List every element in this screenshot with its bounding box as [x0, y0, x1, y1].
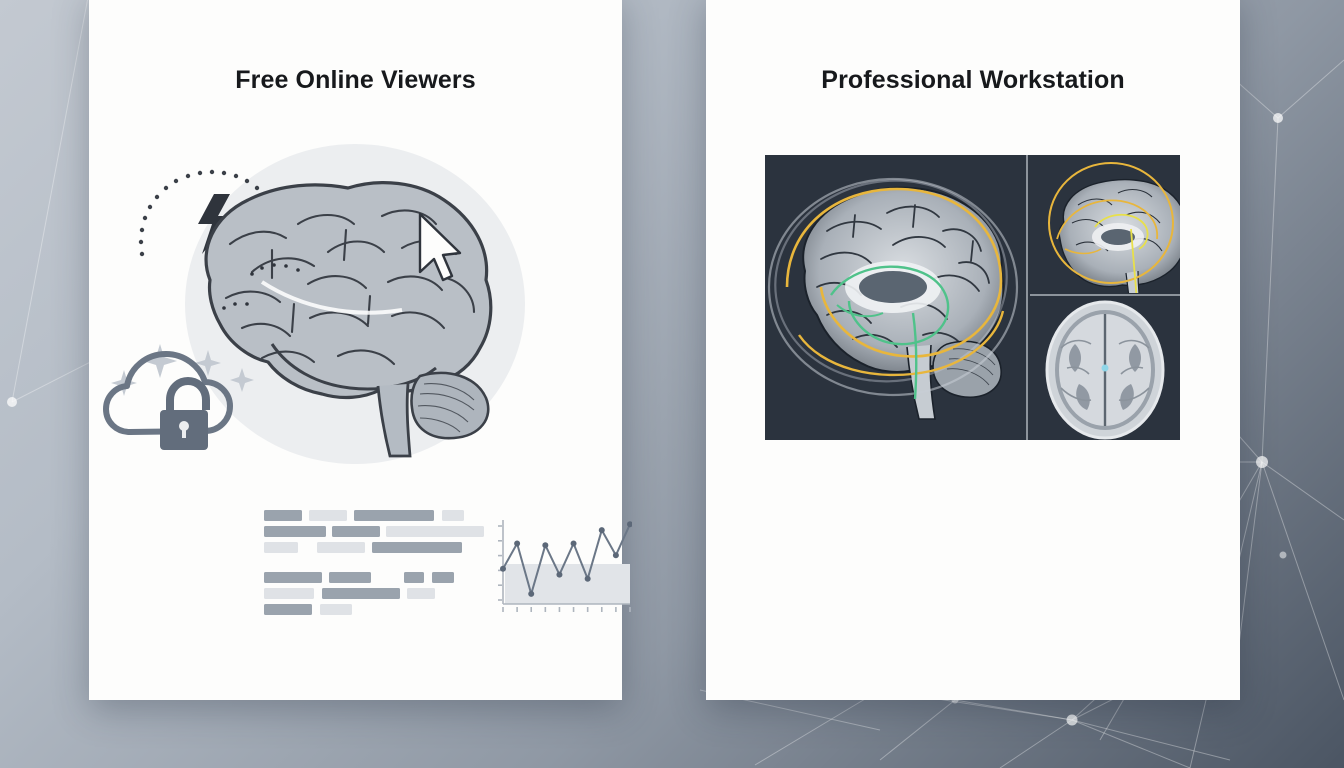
- chart-point: [571, 541, 577, 547]
- panel-free-online-viewers: Free Online Viewers: [89, 0, 622, 700]
- skeleton-bar: [322, 588, 400, 599]
- chart-point: [500, 566, 506, 572]
- skeleton-bar: [404, 572, 424, 583]
- skeleton-bar: [264, 604, 312, 615]
- skeleton-bar: [309, 510, 347, 521]
- skeleton-bar: [264, 510, 302, 521]
- chart-point: [627, 521, 632, 527]
- chart-point: [585, 576, 591, 582]
- brain-lateral-illustration: [102, 132, 609, 482]
- chart-point: [542, 542, 548, 548]
- skeleton-bar: [317, 542, 365, 553]
- skeleton-bar: [264, 526, 326, 537]
- chart-point: [613, 552, 619, 558]
- skeleton-bar: [386, 526, 484, 537]
- skeleton-bar: [332, 526, 380, 537]
- skeleton-bar: [372, 542, 462, 553]
- skeleton-bar: [264, 588, 314, 599]
- sagittal-main-view: [765, 155, 1026, 440]
- chart-point: [514, 541, 520, 547]
- chart-point: [528, 591, 534, 597]
- skeleton-bar: [432, 572, 454, 583]
- chart-point: [599, 527, 605, 533]
- free-viewer-line-chart: [487, 514, 632, 619]
- skeleton-bar: [264, 572, 322, 583]
- axial-view: [1030, 297, 1180, 440]
- page-title-left: Free Online Viewers: [89, 66, 622, 95]
- panel-professional-workstation: Professional Workstation: [706, 0, 1240, 700]
- skeleton-bar: [442, 510, 464, 521]
- skeleton-bar: [329, 572, 371, 583]
- chart-point: [556, 572, 562, 578]
- skeleton-bar: [264, 542, 298, 553]
- skeleton-bar: [407, 588, 435, 599]
- skeleton-bar: [354, 510, 434, 521]
- medical-image-viewer: [765, 155, 1180, 440]
- text-placeholder-skeleton: [264, 510, 414, 608]
- skeleton-bar: [320, 604, 352, 615]
- page-title-right: Professional Workstation: [706, 66, 1240, 95]
